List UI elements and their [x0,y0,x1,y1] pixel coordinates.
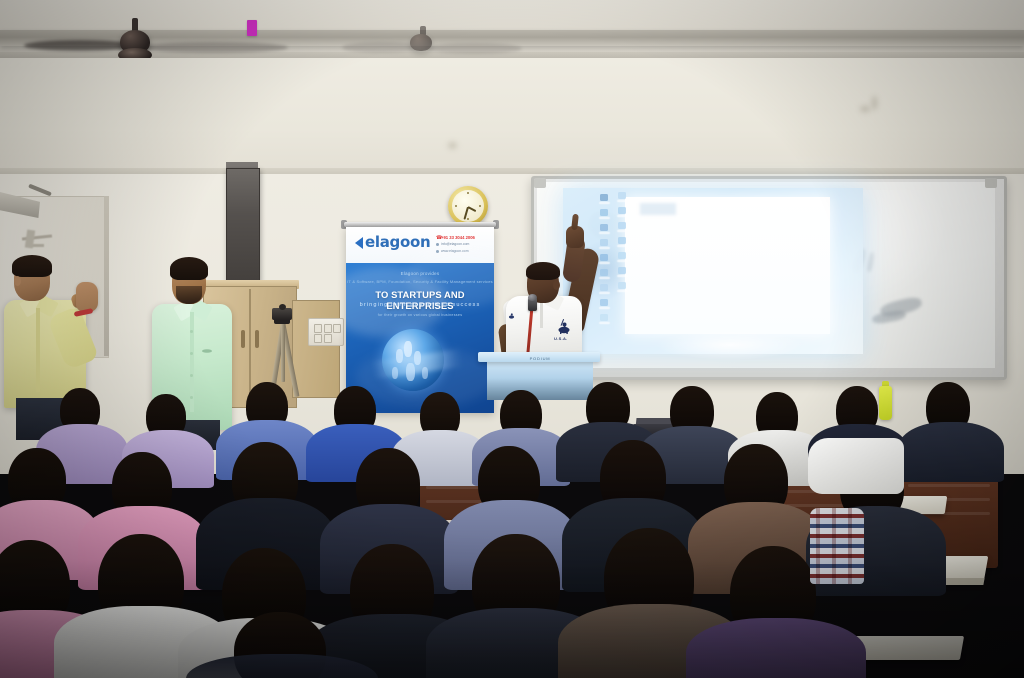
light-switch-plate[interactable] [308,318,344,346]
whiteboard-corner-bracket [985,178,997,188]
document-icon[interactable] [618,252,626,259]
attendee-white-shirt-arm [808,438,904,494]
magenta-sticker-icon [247,20,257,36]
left-chevron-icon [355,237,363,249]
banner-tagline: bringing them guaranteed success [346,302,494,308]
wall-stain [872,96,877,110]
recycle-bin-icon[interactable] [600,314,608,321]
cabinet-handle[interactable] [255,330,259,348]
hair [12,255,52,277]
projected-window-titlebar [640,203,676,215]
settings-icon[interactable] [600,269,608,276]
podium-shading [487,378,593,400]
yellow-water-bottle[interactable] [879,386,892,420]
speaker-ear [553,280,560,290]
attendee-shoulders [686,618,866,678]
door-frame-edge [104,196,109,356]
hair [170,257,208,280]
wall-stain [448,142,457,149]
banner-subline-2: IT & Software, BPM, Foundation, Security… [346,279,494,284]
cabinet-door-seam [249,289,251,403]
cabinet-handle[interactable] [241,330,245,348]
banner-subline-3: for their growth on various global busin… [346,313,494,317]
banner-phone-number: +91 33 3044 2006 [441,235,475,240]
classroom-scene: elagoon ☎ +91 33 3044 2006 info@elagoon.… [0,0,1024,678]
folder-icon[interactable] [600,209,608,216]
recycle-bin-icon[interactable] [618,192,626,199]
shortcut-icon[interactable] [600,299,608,306]
banner-contact-email: info@elagoon.com [441,242,469,246]
upper-wall [0,58,1024,176]
attendee-shoulders [898,422,1004,482]
archive-icon[interactable] [600,284,608,291]
speaker-shirt-placket [540,302,543,328]
wall-panel [226,168,260,282]
document-icon[interactable] [618,222,626,229]
folder-icon[interactable] [618,207,626,214]
projection-glow [655,330,805,360]
archive-icon[interactable] [618,267,626,274]
wooden-cabinet-secondary[interactable] [292,300,340,398]
microphone-grille [528,294,537,301]
browser-icon[interactable] [600,224,608,231]
polo-player-icon [556,318,572,336]
ear [14,276,21,286]
my-computer-icon[interactable] [600,194,608,201]
whiteboard-corner-bracket [534,178,546,188]
folder-icon[interactable] [618,237,626,244]
polo-player-icon [508,312,515,320]
shirt-placket [36,308,40,392]
shirt-pocket-logo-icon [200,348,214,354]
banner-subline-1: Elagoon provides [346,271,494,276]
media-player-icon[interactable] [600,254,608,261]
elagoon-rollup-banner: elagoon ☎ +91 33 3044 2006 info@elagoon.… [346,227,494,413]
speaker-hair [526,262,560,280]
wall-stain [860,106,870,112]
document-icon[interactable] [600,239,608,246]
clasped-hands [76,282,98,312]
tripod-leg [281,322,285,382]
speaker-shirt-logo-text: U.S.A. [554,336,568,341]
attendee-plaid-shirt [810,508,864,584]
tripod-knob[interactable] [279,304,286,310]
shortcut-icon[interactable] [618,282,626,289]
banner-brand-name: elagoon [365,233,430,251]
podium-label: PODIUM [500,356,580,361]
projected-application-window [625,197,830,334]
beard [176,286,202,304]
